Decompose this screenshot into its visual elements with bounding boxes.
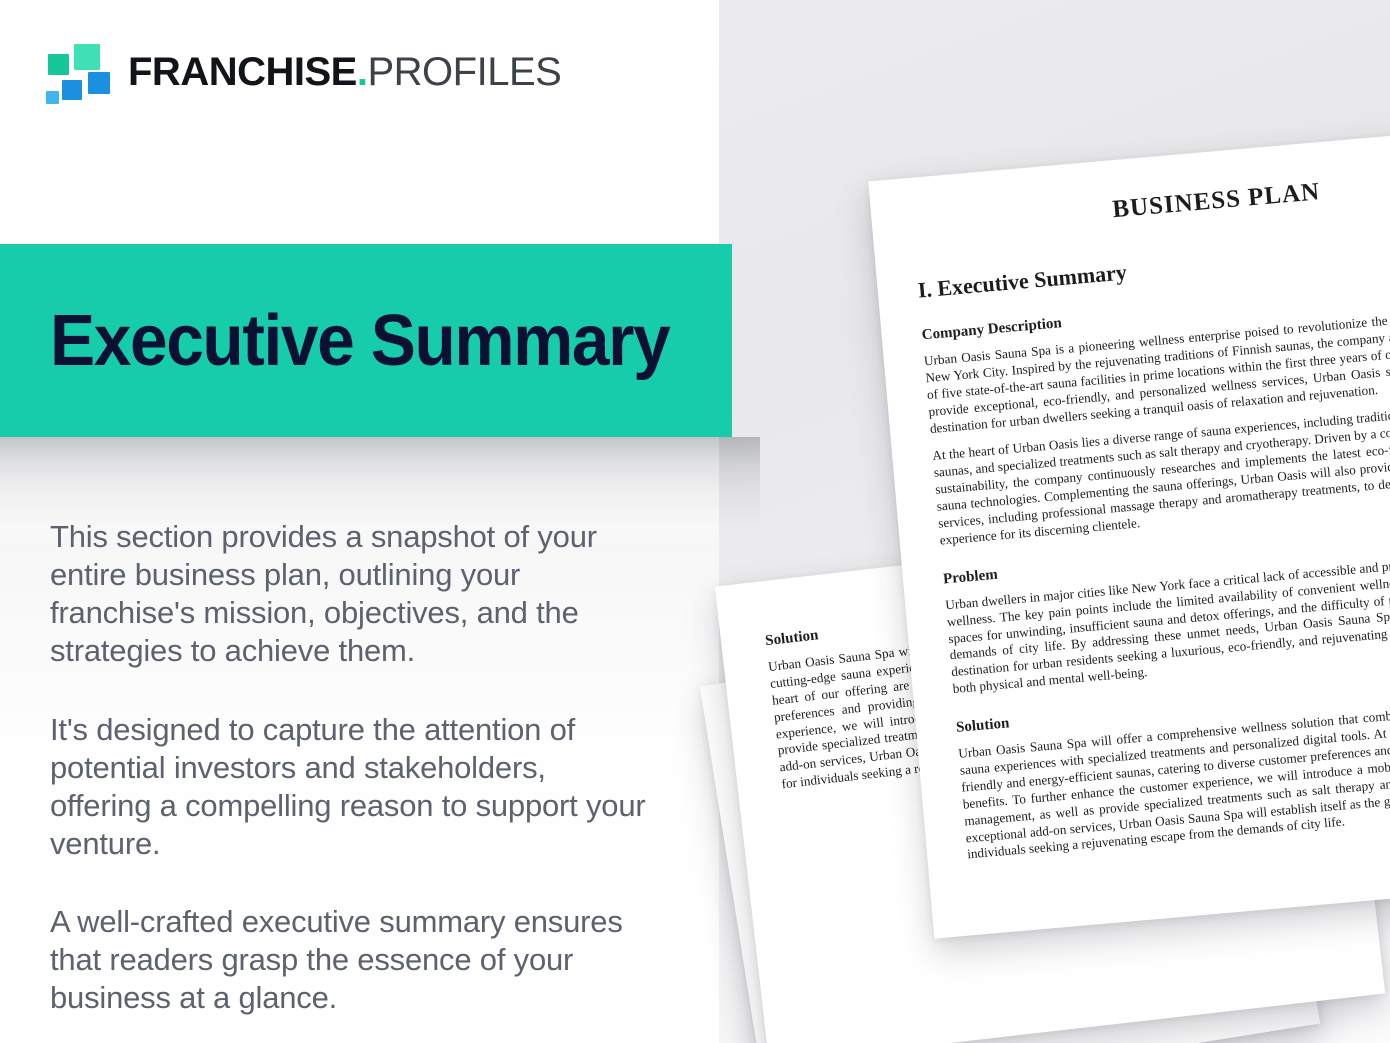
body-paragraph-1: This section provides a snapshot of your… xyxy=(50,518,650,671)
logo-square-green-dark-icon xyxy=(48,54,69,75)
slide-canvas: FRANCHISE.PROFILES Executive Summary Thi… xyxy=(0,0,1390,1043)
brand-name-bold: FRANCHISE xyxy=(128,50,357,94)
logo-square-green-light-icon xyxy=(74,44,100,70)
page-title: Executive Summary xyxy=(50,305,669,377)
banner-shadow xyxy=(0,437,760,527)
logo-square-blue-upper-icon xyxy=(88,72,110,94)
logo-squares-icon xyxy=(46,44,108,100)
body-paragraph-2: It's designed to capture the attention o… xyxy=(50,711,650,864)
body-paragraph-3: A well-crafted executive summary ensures… xyxy=(50,903,650,1017)
document-page-front: BUSINESS PLAN I. Executive Summary Compa… xyxy=(868,121,1390,938)
brand-wordmark: FRANCHISE.PROFILES xyxy=(128,52,561,92)
brand-logo: FRANCHISE.PROFILES xyxy=(46,44,561,100)
brand-name-dot: . xyxy=(357,50,368,94)
logo-square-blue-lower-icon xyxy=(62,80,82,100)
logo-square-blue-small-icon xyxy=(46,91,59,104)
document-stack: as well as Complemented by exceptional g… xyxy=(700,120,1390,1043)
brand-name-thin: PROFILES xyxy=(367,50,561,94)
body-copy: This section provides a snapshot of your… xyxy=(50,518,650,1017)
document-title: BUSINESS PLAN xyxy=(911,161,1390,242)
title-banner: Executive Summary xyxy=(0,244,732,437)
